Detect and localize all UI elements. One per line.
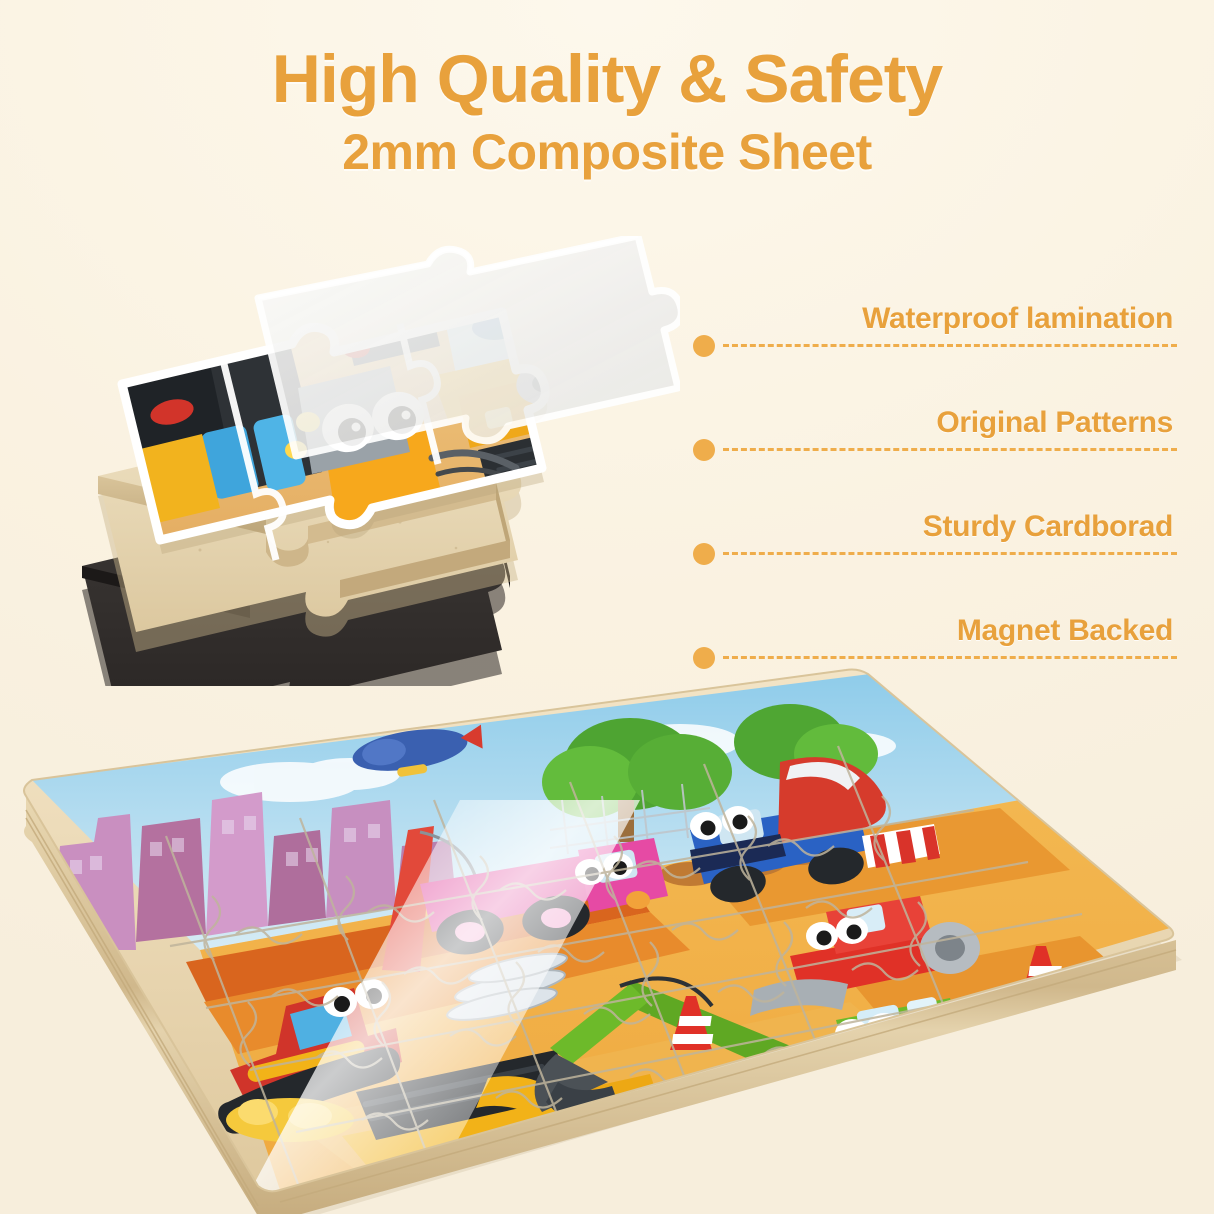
bullet-dot-icon — [693, 335, 715, 357]
feature-label: Sturdy Cardborad — [923, 510, 1173, 544]
infographic-canvas: High Quality & Safety 2mm Composite Shee… — [0, 0, 1214, 1214]
dashed-leader-line — [723, 656, 1177, 659]
assembled-puzzle-board — [0, 650, 1214, 1214]
dashed-leader-line — [723, 552, 1177, 555]
feature-item-magnet-backed: Magnet Backed — [693, 574, 1181, 678]
bullet-dot-icon — [693, 647, 715, 669]
page-subtitle: 2mm Composite Sheet — [0, 126, 1214, 179]
bullet-dot-icon — [693, 439, 715, 461]
feature-label: Waterproof lamination — [862, 302, 1173, 336]
feature-label: Original Patterns — [936, 406, 1173, 440]
page-title: High Quality & Safety — [0, 44, 1214, 115]
transparent-waterproof-lamination-layer — [258, 236, 680, 456]
feature-list: Waterproof lamination Original Patterns … — [693, 262, 1181, 678]
dashed-leader-line — [723, 344, 1177, 347]
feature-item-original-patterns: Original Patterns — [693, 366, 1181, 470]
bullet-dot-icon — [693, 543, 715, 565]
feature-item-waterproof-lamination: Waterproof lamination — [693, 262, 1181, 366]
exploded-puzzle-piece-diagram — [60, 236, 680, 686]
feature-item-sturdy-cardboard: Sturdy Cardborad — [693, 470, 1181, 574]
dashed-leader-line — [723, 448, 1177, 451]
feature-label: Magnet Backed — [957, 614, 1173, 648]
sand-pile-center — [620, 1130, 760, 1178]
